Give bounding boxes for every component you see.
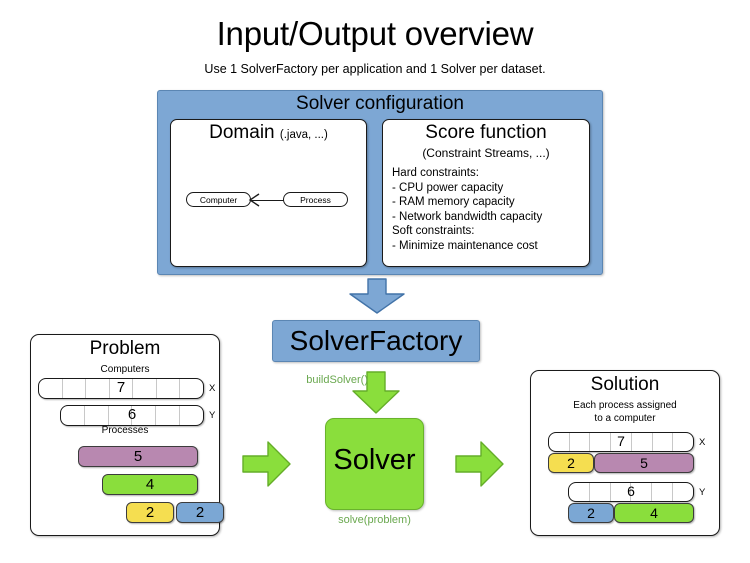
capacity-segment — [570, 433, 591, 451]
score-constraint-line: - RAM memory capacity — [392, 195, 587, 210]
capacity-segment — [156, 406, 180, 425]
score-function-subtitle: (Constraint Streams, ...) — [382, 146, 590, 160]
capacity-segment — [180, 406, 203, 425]
problem-process-bar: 5 — [78, 446, 198, 467]
problem-process-bar: 2 — [176, 502, 224, 523]
uml-node-computer: Computer — [186, 192, 251, 207]
problem-computer-bar-y — [60, 405, 204, 426]
solution-computer-name-y: Y — [699, 487, 705, 498]
capacity-segment — [569, 483, 590, 501]
problem-title: Problem — [30, 338, 220, 360]
page-subtitle: Use 1 SolverFactory per application and … — [0, 62, 750, 76]
capacity-segment — [61, 406, 85, 425]
solution-title: Solution — [530, 374, 720, 396]
score-constraint-line: - Minimize maintenance cost — [392, 239, 587, 254]
solver-factory-label: SolverFactory — [272, 325, 480, 357]
capacity-segment — [549, 433, 570, 451]
score-constraint-line: - CPU power capacity — [392, 181, 587, 196]
capacity-segment — [39, 379, 63, 398]
problem-computer-name-x: X — [209, 383, 215, 394]
capacity-segment — [611, 433, 632, 451]
capacity-segment — [611, 483, 632, 501]
capacity-segment — [63, 379, 87, 398]
arrow-problem-to-solver-icon — [242, 440, 292, 488]
page-title: Input/Output overview — [0, 14, 750, 54]
capacity-segment — [652, 483, 673, 501]
capacity-segment — [132, 406, 156, 425]
solution-assigned-process: 5 — [594, 453, 694, 473]
capacity-segment — [85, 406, 109, 425]
uml-node-process: Process — [283, 192, 348, 207]
domain-card-title: Domain (.java, ...) — [170, 122, 367, 144]
solution-caption-line-1: Each process assigned — [530, 400, 720, 413]
score-constraint-line: - Network bandwidth capacity — [392, 210, 587, 225]
score-constraint-line: Hard constraints: — [392, 166, 587, 181]
problem-computer-bar-x — [38, 378, 204, 399]
capacity-segment — [86, 379, 110, 398]
problem-process-bar: 4 — [102, 474, 198, 495]
score-function-title: Score function — [382, 122, 590, 144]
solution-assigned-process: 2 — [568, 503, 614, 523]
capacity-segment — [673, 433, 693, 451]
capacity-segment — [590, 433, 611, 451]
solver-label: Solver — [325, 444, 424, 477]
score-function-constraints: Hard constraints:- CPU power capacity- R… — [392, 166, 587, 254]
capacity-segment — [109, 406, 133, 425]
score-constraint-line: Soft constraints: — [392, 224, 587, 239]
capacity-segment — [133, 379, 157, 398]
capacity-segment — [673, 483, 693, 501]
capacity-segment — [632, 433, 653, 451]
problem-process-bar: 2 — [126, 502, 174, 523]
capacity-segment — [110, 379, 134, 398]
capacity-segment — [157, 379, 181, 398]
solve-problem-caption: solve(problem) — [325, 514, 424, 526]
solution-assigned-process: 4 — [614, 503, 694, 523]
problem-processes-label: Processes — [30, 425, 220, 436]
capacity-segment — [653, 433, 674, 451]
build-solver-caption: buildSolver() — [288, 374, 368, 386]
solution-computer-bar-x — [548, 432, 694, 452]
problem-computers-label: Computers — [30, 364, 220, 375]
solution-computer-bar-y — [568, 482, 694, 502]
domain-title-text: Domain — [209, 122, 274, 143]
capacity-segment — [180, 379, 203, 398]
solver-configuration-title: Solver configuration — [157, 93, 603, 115]
capacity-segment — [631, 483, 652, 501]
solution-caption-line-2: to a computer — [530, 413, 720, 426]
uml-arrowhead-icon — [248, 192, 260, 208]
solution-caption: Each process assigned to a computer — [530, 400, 720, 425]
capacity-segment — [590, 483, 611, 501]
problem-computer-name-y: Y — [209, 410, 215, 421]
arrow-solver-to-solution-icon — [455, 440, 505, 488]
solution-computer-name-x: X — [699, 437, 705, 448]
arrow-config-to-factory-icon — [348, 278, 406, 314]
solution-assigned-process: 2 — [548, 453, 594, 473]
domain-title-suffix: (.java, ...) — [280, 129, 328, 141]
